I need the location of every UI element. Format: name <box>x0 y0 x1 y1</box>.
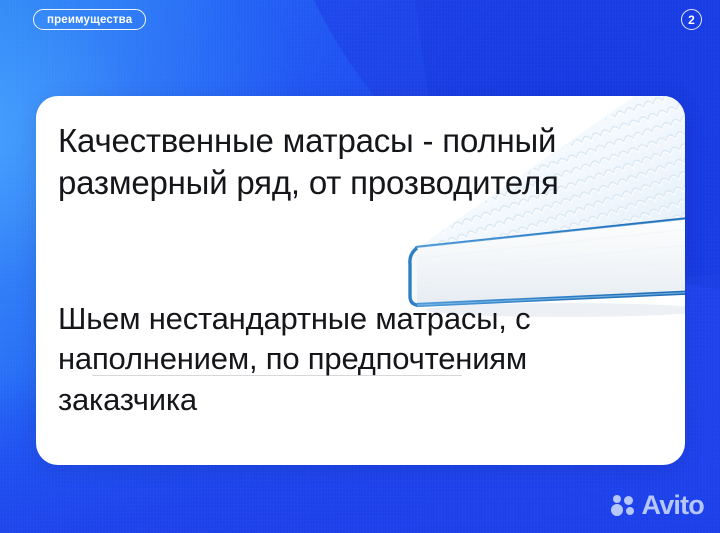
avito-brand-label: Avito <box>642 492 705 519</box>
page-indicator: 2 <box>681 9 702 30</box>
slide-root: преимущества 2 <box>0 0 720 533</box>
content-card-inner: Качественные матрасы - полный размерный … <box>36 96 685 465</box>
category-badge: преимущества <box>33 9 146 30</box>
card-text-column: Качественные матрасы - полный размерный … <box>58 120 578 203</box>
content-card: Качественные матрасы - полный размерный … <box>36 96 685 465</box>
page-indicator-number: 2 <box>688 14 695 26</box>
card-headline: Качественные матрасы - полный размерный … <box>58 120 578 203</box>
card-subline: Шьем нестандартные матрасы, с наполнение… <box>58 299 588 420</box>
category-badge-label: преимущества <box>47 14 132 26</box>
avito-watermark: Avito <box>611 492 705 519</box>
avito-dots-icon <box>611 494 637 518</box>
